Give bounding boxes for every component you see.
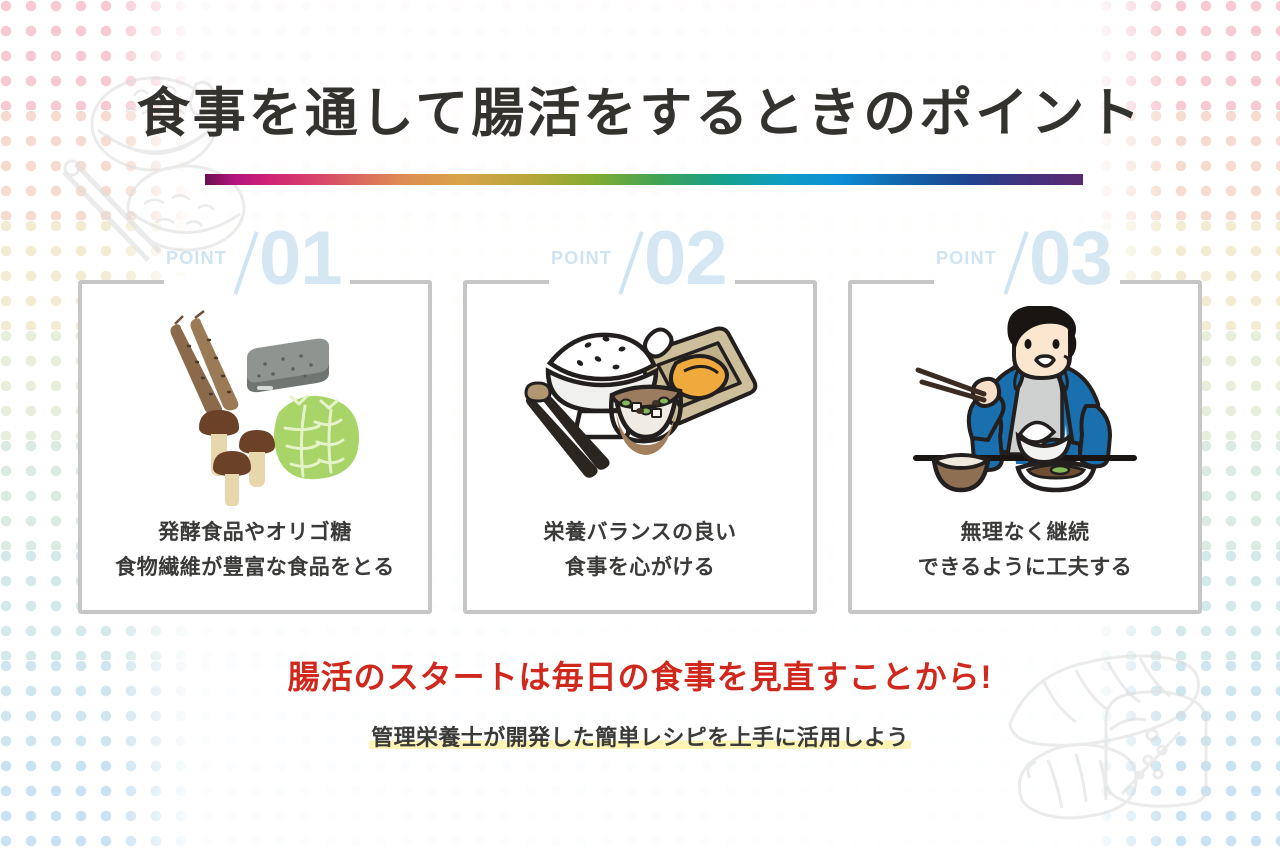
point-label: POINT xyxy=(166,248,227,269)
caption-line-2: できるように工夫する xyxy=(858,551,1192,586)
caption-line-1: 発酵食品やオリゴ糖 xyxy=(158,521,352,544)
point-label: POINT xyxy=(551,248,612,269)
card-top-border-gap xyxy=(549,276,735,284)
card-caption-03: 無理なく継続 できるように工夫する xyxy=(858,516,1192,585)
man-eating-meal-icon xyxy=(848,296,1202,516)
point-cards-row: POINT 01 xyxy=(78,280,1202,614)
footer-headline: 腸活のスタートは毎日の食事を見直すことから! xyxy=(0,658,1280,696)
caption-line-1: 栄養バランスの良い xyxy=(543,521,736,544)
point-label: POINT xyxy=(936,248,997,269)
page-title: 食事を通して腸活をするときのポイント xyxy=(0,84,1280,143)
card-top-border-gap xyxy=(164,276,350,284)
point-card-02: POINT 02 xyxy=(463,280,817,614)
caption-line-2: 食事を心がける xyxy=(473,551,807,586)
rainbow-gradient-rule xyxy=(205,174,1083,185)
fermented-foods-vegetables-icon xyxy=(78,296,432,516)
title-block: 食事を通して腸活をするときのポイント xyxy=(0,84,1280,143)
point-card-01: POINT 01 xyxy=(78,280,432,614)
footer-subtitle: 管理栄養士が開発した簡単レシピを上手に活用しよう xyxy=(369,725,911,750)
balanced-japanese-meal-icon xyxy=(463,296,817,516)
footer-block: 腸活のスタートは毎日の食事を見直すことから! 管理栄養士が開発した簡単レシピを上… xyxy=(0,658,1280,756)
caption-line-2: 食物繊維が豊富な食品をとる xyxy=(88,551,422,586)
point-card-03: POINT 03 xyxy=(848,280,1202,614)
infographic-canvas: 食事を通して腸活をするときのポイント POINT 01 xyxy=(0,0,1280,854)
footer-subtitle-wrap: 管理栄養士が開発した簡単レシピを上手に活用しよう xyxy=(0,720,1280,755)
card-caption-01: 発酵食品やオリゴ糖 食物繊維が豊富な食品をとる xyxy=(88,516,422,585)
card-top-border-gap xyxy=(934,276,1120,284)
caption-line-1: 無理なく継続 xyxy=(961,521,1090,544)
card-caption-02: 栄養バランスの良い 食事を心がける xyxy=(473,516,807,585)
